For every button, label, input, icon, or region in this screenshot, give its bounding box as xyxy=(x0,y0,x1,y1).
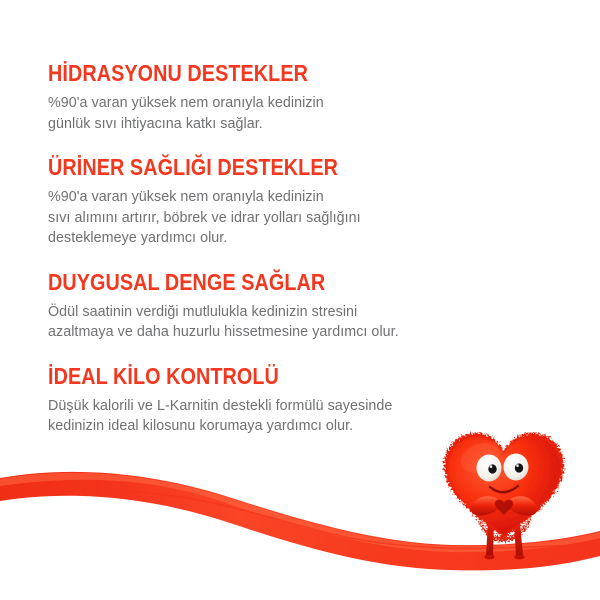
mascot-foot-right xyxy=(514,555,524,560)
benefit-heading: ÜRİNER SAĞLIĞI DESTEKLER xyxy=(48,154,495,180)
benefit-heading: DUYGUSAL DENGE SAĞLAR xyxy=(48,269,495,295)
promo-page: HİDRASYONU DESTEKLER %90'a varan yüksek … xyxy=(0,0,600,600)
benefit-body: %90'a varan yüksek nem oranıyla kedinizi… xyxy=(48,93,568,134)
mascot-foot-left xyxy=(484,555,494,560)
benefit-item-hydration: HİDRASYONU DESTEKLER %90'a varan yüksek … xyxy=(48,60,568,134)
fuzzy-red-heart-character xyxy=(432,418,582,568)
benefit-heading: İDEAL KİLO KONTROLÜ xyxy=(48,363,495,389)
benefit-item-emotional-balance: DUYGUSAL DENGE SAĞLAR Ödül saatinin verd… xyxy=(48,269,568,343)
benefit-item-urinary-health: ÜRİNER SAĞLIĞI DESTEKLER %90'a varan yük… xyxy=(48,154,568,249)
mascot-pupil-left xyxy=(488,464,496,473)
benefit-list: HİDRASYONU DESTEKLER %90'a varan yüksek … xyxy=(48,60,568,437)
benefit-heading: HİDRASYONU DESTEKLER xyxy=(48,60,495,86)
benefit-body: Ödül saatinin verdiği mutlulukla kediniz… xyxy=(48,302,568,343)
mascot-pupil-right xyxy=(515,463,523,472)
benefit-body: %90'a varan yüksek nem oranıyla kedinizi… xyxy=(48,187,568,249)
